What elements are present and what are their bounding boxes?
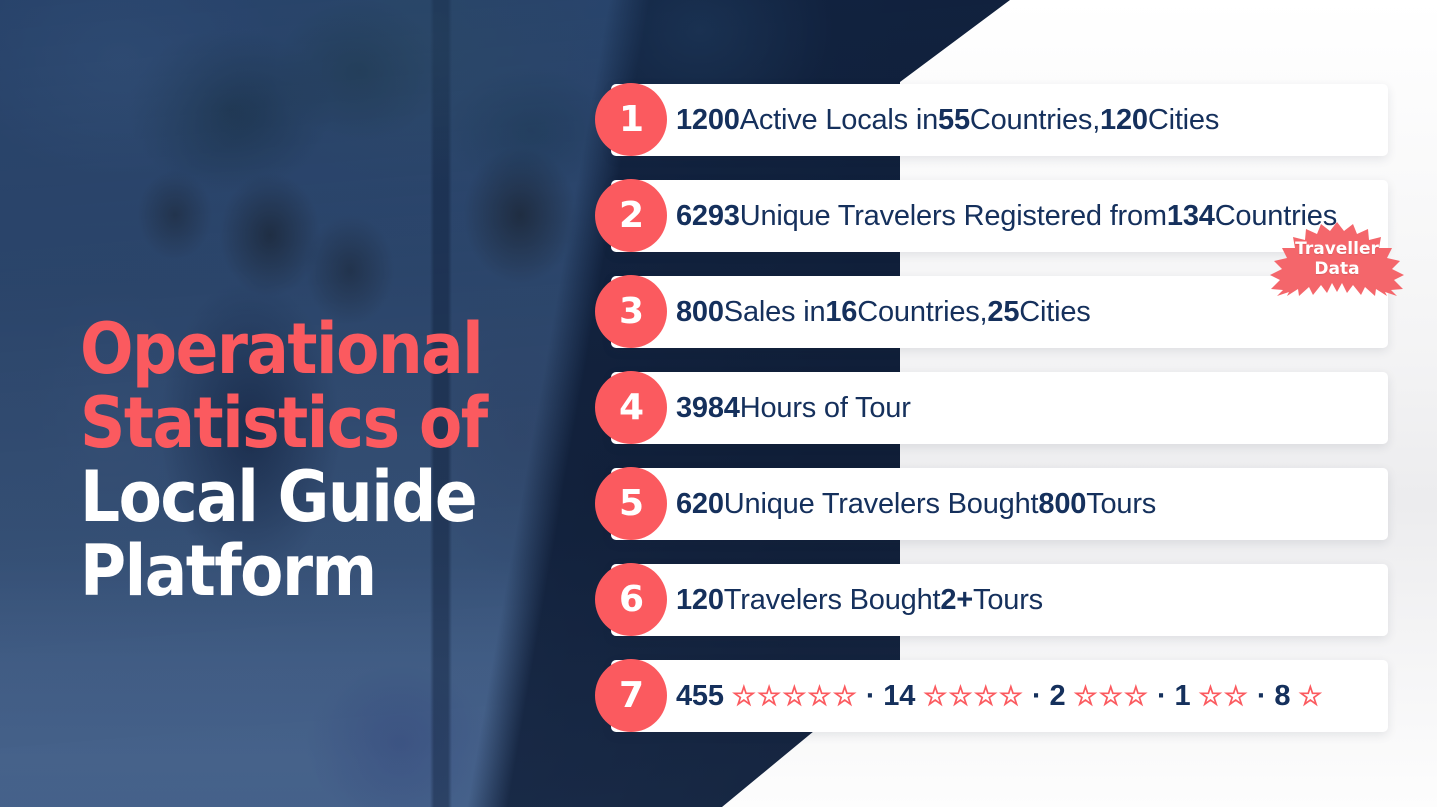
stat-row: 11200 Active Locals in 55 Countries, 120…: [611, 84, 1388, 156]
star-icon-group: ☆☆: [1198, 681, 1248, 712]
stat-label: Sales in: [724, 296, 826, 329]
stat-label: Cities: [1148, 104, 1219, 137]
stat-value: 16: [825, 296, 857, 329]
stat-value: 800: [676, 296, 724, 329]
stat-row-text: 120 Travelers Bought 2+ Tours: [676, 564, 1043, 636]
stat-value: 1200: [676, 104, 740, 137]
star-icon-group: ☆☆☆☆: [923, 681, 1024, 712]
stat-value: 120: [1100, 104, 1148, 137]
stat-value: 55: [938, 104, 970, 137]
stat-row-text: 800 Sales in 16 Countries, 25 Cities: [676, 276, 1091, 348]
rating-count: 455: [676, 680, 724, 713]
sticker-line-1: Traveller: [1295, 239, 1379, 259]
stat-label: Cities: [1019, 296, 1090, 329]
stat-label: Countries,: [970, 104, 1100, 137]
traveller-data-sticker: Traveller Data: [1249, 222, 1425, 296]
rating-breakdown: 455☆☆☆☆☆·14☆☆☆☆·2☆☆☆·1☆☆·8☆: [676, 680, 1331, 713]
stat-label: Hours of Tour: [740, 392, 911, 425]
sticker-label: Traveller Data: [1249, 222, 1425, 296]
rating-count: 2: [1049, 680, 1065, 713]
stat-value: 134: [1167, 200, 1215, 233]
star-icon-group: ☆: [1298, 681, 1323, 712]
stat-number-badge: 7: [595, 659, 667, 732]
star-icon-group: ☆☆☆: [1073, 681, 1149, 712]
stat-label: Active Locals in: [740, 104, 938, 137]
stat-row: 43984 Hours of Tour: [611, 372, 1388, 444]
stat-value: 620: [676, 488, 724, 521]
stat-row-text: 1200 Active Locals in 55 Countries, 120 …: [676, 84, 1219, 156]
stat-value: 120: [676, 584, 724, 617]
rating-count: 14: [883, 680, 915, 713]
stat-value: 800: [1038, 488, 1086, 521]
rating-separator: ·: [1157, 680, 1166, 713]
infographic-canvas: Operational Statistics of Local Guide Pl…: [0, 0, 1437, 807]
stat-row-text: 6293 Unique Travelers Registered from 13…: [676, 180, 1337, 252]
stat-number-badge: 6: [595, 563, 667, 636]
stat-number-badge: 2: [595, 179, 667, 252]
stat-label: Tours: [1086, 488, 1156, 521]
stat-number-badge: 1: [595, 83, 667, 156]
rating-separator: ·: [866, 680, 875, 713]
stat-rows: 11200 Active Locals in 55 Countries, 120…: [0, 0, 1437, 807]
rating-separator: ·: [1257, 680, 1266, 713]
stat-row-ratings: 455☆☆☆☆☆·14☆☆☆☆·2☆☆☆·1☆☆·8☆: [676, 660, 1331, 732]
stat-label: Tours: [973, 584, 1043, 617]
stat-value: 6293: [676, 200, 740, 233]
stat-value: 2+: [940, 584, 973, 617]
stat-row: 7455☆☆☆☆☆·14☆☆☆☆·2☆☆☆·1☆☆·8☆: [611, 660, 1388, 732]
stat-row: 5620 Unique Travelers Bought 800 Tours: [611, 468, 1388, 540]
stat-value: 25: [987, 296, 1019, 329]
star-icon-group: ☆☆☆☆☆: [732, 681, 858, 712]
sticker-line-2: Data: [1314, 259, 1359, 279]
stat-row: 6120 Travelers Bought 2+ Tours: [611, 564, 1388, 636]
rating-separator: ·: [1032, 680, 1041, 713]
stat-number-badge: 3: [595, 275, 667, 348]
rating-count: 1: [1174, 680, 1190, 713]
stat-value: 3984: [676, 392, 740, 425]
stat-row-text: 620 Unique Travelers Bought 800 Tours: [676, 468, 1156, 540]
stat-label: Unique Travelers Bought: [724, 488, 1039, 521]
rating-count: 8: [1274, 680, 1290, 713]
stat-number-badge: 5: [595, 467, 667, 540]
stat-number-badge: 4: [595, 371, 667, 444]
stat-row-text: 3984 Hours of Tour: [676, 372, 911, 444]
stat-label: Travelers Bought: [724, 584, 941, 617]
stat-label: Unique Travelers Registered from: [740, 200, 1167, 233]
stat-label: Countries,: [857, 296, 987, 329]
